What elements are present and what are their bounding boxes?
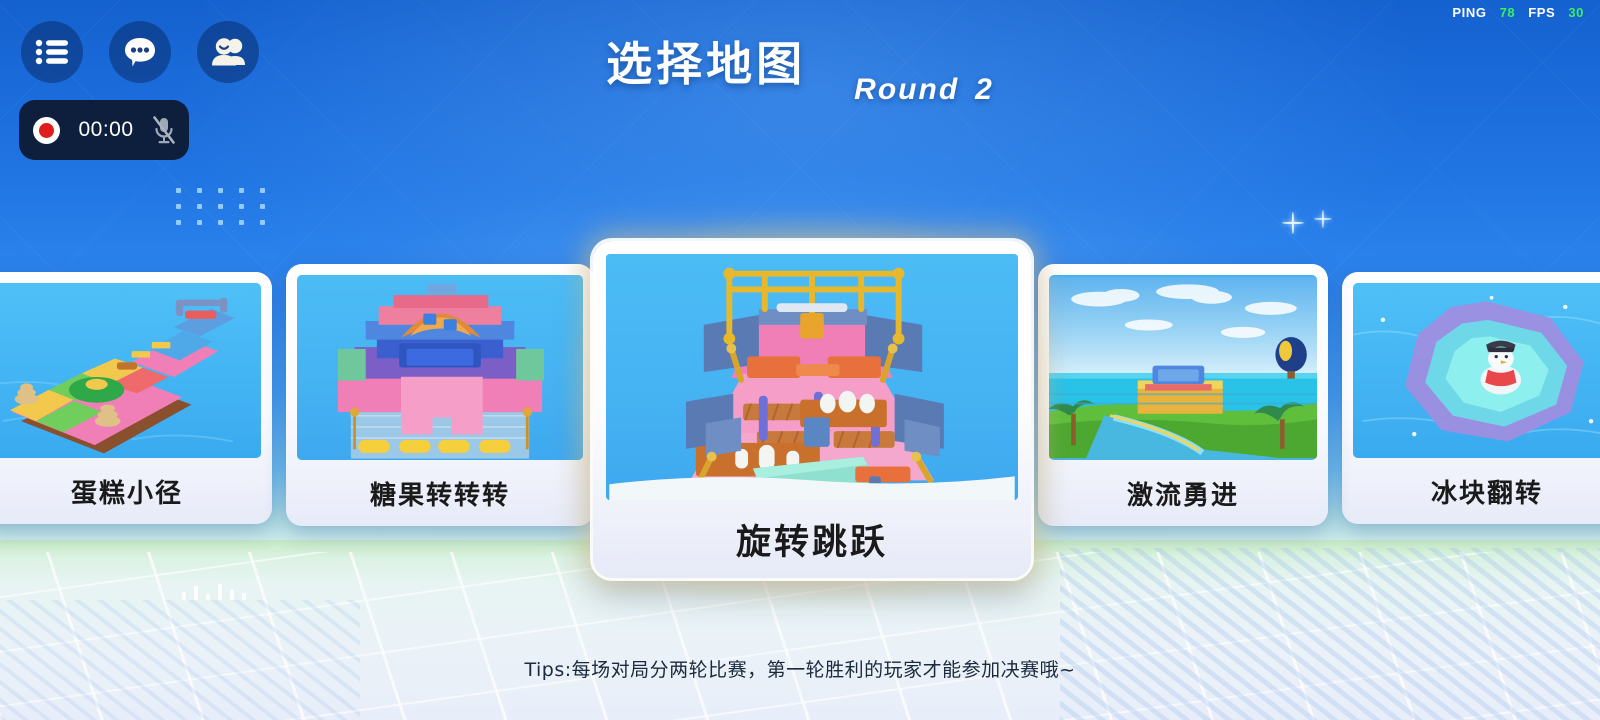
map-card-caption: 蛋糕小径 <box>0 458 261 524</box>
map-thumbnail-rapids <box>1049 275 1317 460</box>
map-card-candy-spin[interactable]: 糖果转转转 <box>286 264 594 526</box>
map-card-caption: 旋转跳跃 <box>606 500 1018 578</box>
map-card-label: 激流勇进 <box>1127 475 1239 512</box>
title-area: 选择地图 Round2 <box>0 28 1600 94</box>
game-screen: 蛋糕小径 <box>0 0 1600 720</box>
fps-label: FPS <box>1528 5 1555 20</box>
ping-label: PING <box>1452 5 1486 20</box>
top-bar: 00:00 选择地图 Round2 PING 78 FPS 30 <box>0 0 1600 110</box>
map-thumbnail-cake-path <box>0 283 261 458</box>
map-card-label: 糖果转转转 <box>370 475 510 512</box>
map-thumbnail-spin-jump <box>606 254 1018 500</box>
ping-value: 78 <box>1500 5 1516 20</box>
map-card-label: 蛋糕小径 <box>71 473 183 510</box>
tips-text: Tips:每场对局分两轮比赛，第一轮胜利的玩家才能参加决赛哦~ <box>0 655 1600 682</box>
round-label-text: Round <box>854 73 959 106</box>
page-title: 选择地图 <box>606 28 806 94</box>
record-dot-icon <box>33 117 60 144</box>
map-card-cake-path[interactable]: 蛋糕小径 <box>0 272 272 524</box>
fps-value: 30 <box>1568 5 1584 20</box>
round-number: 2 <box>975 73 994 106</box>
network-stats: PING 78 FPS 30 <box>1452 5 1584 20</box>
map-card-caption: 冰块翻转 <box>1353 458 1600 524</box>
map-card-label: 旋转跳跃 <box>736 514 888 565</box>
map-card-rapids[interactable]: 激流勇进 <box>1038 264 1328 526</box>
map-card-label: 冰块翻转 <box>1431 473 1543 510</box>
recording-time: 00:00 <box>60 118 152 142</box>
map-thumbnail-candy-spin <box>297 275 583 460</box>
map-card-caption: 糖果转转转 <box>297 460 583 526</box>
round-indicator: Round2 <box>854 73 994 107</box>
recording-widget[interactable]: 00:00 <box>19 100 189 160</box>
map-card-spin-jump[interactable]: 旋转跳跃 <box>593 241 1031 578</box>
map-card-ice-flip[interactable]: 冰块翻转 <box>1342 272 1600 524</box>
map-card-caption: 激流勇进 <box>1049 460 1317 526</box>
microphone-muted-icon[interactable] <box>152 116 176 144</box>
map-thumbnail-ice-flip <box>1353 283 1600 458</box>
